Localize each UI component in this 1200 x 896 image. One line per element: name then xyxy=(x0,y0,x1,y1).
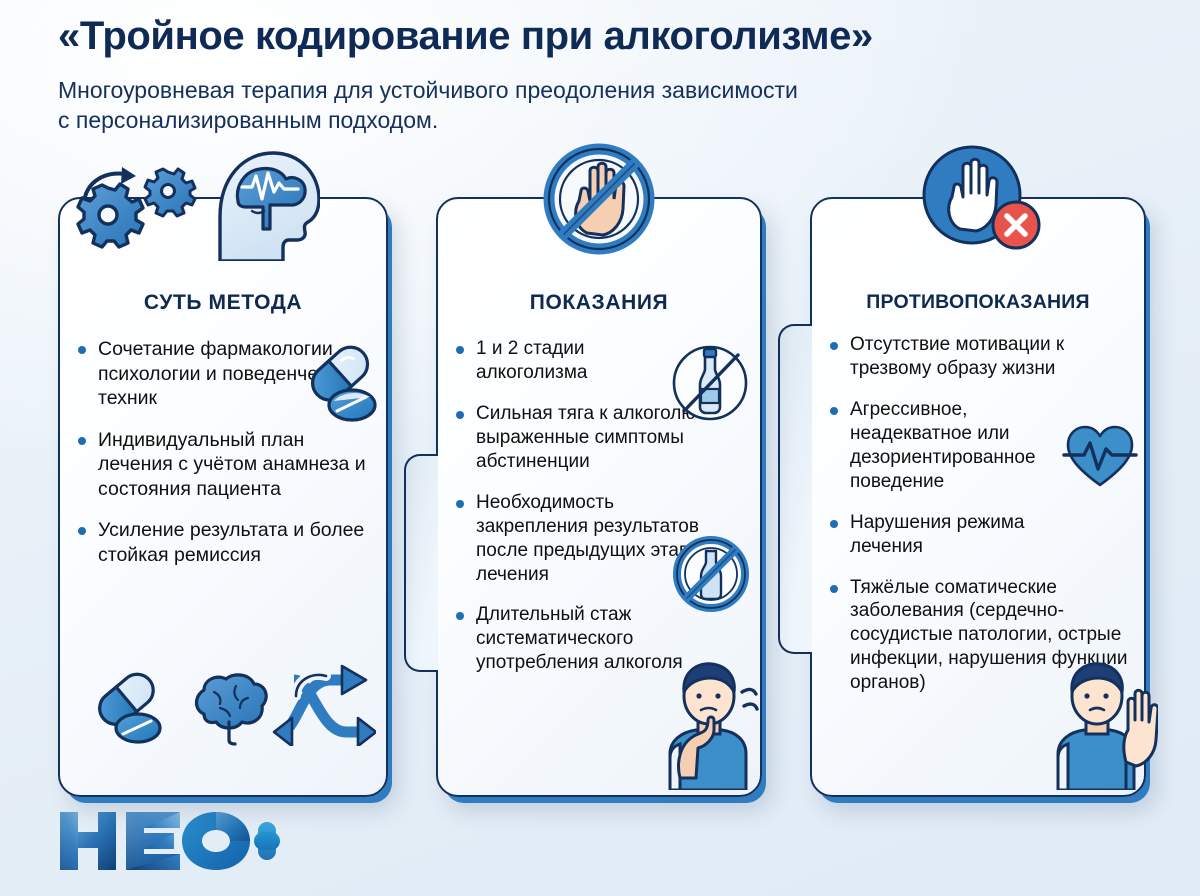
list-item: Отсутствие мотивации к трезвому образу ж… xyxy=(830,333,1134,381)
shuffle-arrows-icon xyxy=(272,662,376,751)
logo-neo-plus: НЕО+ xyxy=(56,808,280,874)
list-item: Индивидуальный план лечения с учётом ана… xyxy=(78,428,376,502)
page-title: «Тройное кодирование при алкоголизме» xyxy=(58,14,1158,59)
blue-hand-stop-x-icon xyxy=(812,141,1144,261)
list-item: Нарушения режима лечения xyxy=(830,511,1065,559)
bullet-list-pokazaniya: 1 и 2 стадии алкоголизма Сильная тяга к … xyxy=(456,337,750,692)
head-brain-gears-icon xyxy=(60,141,386,261)
list-item: 1 и 2 стадии алкоголизма xyxy=(456,337,681,385)
card-title-sut-metoda: СУТЬ МЕТОДА xyxy=(60,291,386,315)
list-item: Усиление результата и более стойкая реми… xyxy=(78,518,376,567)
connector-card1-card2 xyxy=(404,454,438,672)
infographic-page: «Тройное кодирование при алкоголизме» Мн… xyxy=(0,0,1200,896)
page-subtitle: Многоуровневая терапия для устойчивого п… xyxy=(58,75,1138,136)
list-item: Длительный стаж систематического употреб… xyxy=(456,603,691,675)
list-item: Агрессивное, неадекватное или дезориенти… xyxy=(830,398,1060,494)
list-item: Сочетание фармакологии, психологии и пов… xyxy=(78,337,376,411)
card-protivopokazaniya: ПРОТИВОПОКАЗАНИЯ Отсутствие мотивации к … xyxy=(810,197,1146,797)
list-item: Сильная тяга к алкоголю и выраженные сим… xyxy=(456,402,750,474)
logo-mark xyxy=(56,808,280,874)
bullet-list-sut-metoda: Сочетание фармакологии, психологии и пов… xyxy=(78,337,376,585)
list-item: Тяжёлые соматические заболевания (сердеч… xyxy=(830,576,1134,696)
header: «Тройное кодирование при алкоголизме» Мн… xyxy=(58,14,1158,136)
pill-capsule-icon xyxy=(86,668,170,753)
card-title-pokazaniya: ПОКАЗАНИЯ xyxy=(438,291,760,315)
subtitle-line-1: Многоуровневая терапия для устойчивого п… xyxy=(58,77,798,103)
subtitle-line-2: с персонализированным подходом. xyxy=(58,107,438,133)
brain-icon xyxy=(186,670,272,751)
list-item: Необходимость закрепления результатов по… xyxy=(456,491,711,587)
bullet-list-protivopokazaniya: Отсутствие мотивации к трезвому образу ж… xyxy=(830,333,1134,712)
card-title-protivopokazaniya: ПРОТИВОПОКАЗАНИЯ xyxy=(812,291,1144,314)
stop-hand-prohibition-icon xyxy=(438,141,760,261)
card-sut-metoda: СУТЬ МЕТОДА Сочетание фармакологии, псих… xyxy=(58,197,388,797)
connector-card2-card3 xyxy=(778,324,812,654)
card-pokazaniya: ПОКАЗАНИЯ 1 и 2 стадии алкоголизма Сильн… xyxy=(436,197,762,797)
cards-row: СУТЬ МЕТОДА Сочетание фармакологии, псих… xyxy=(0,197,1200,812)
